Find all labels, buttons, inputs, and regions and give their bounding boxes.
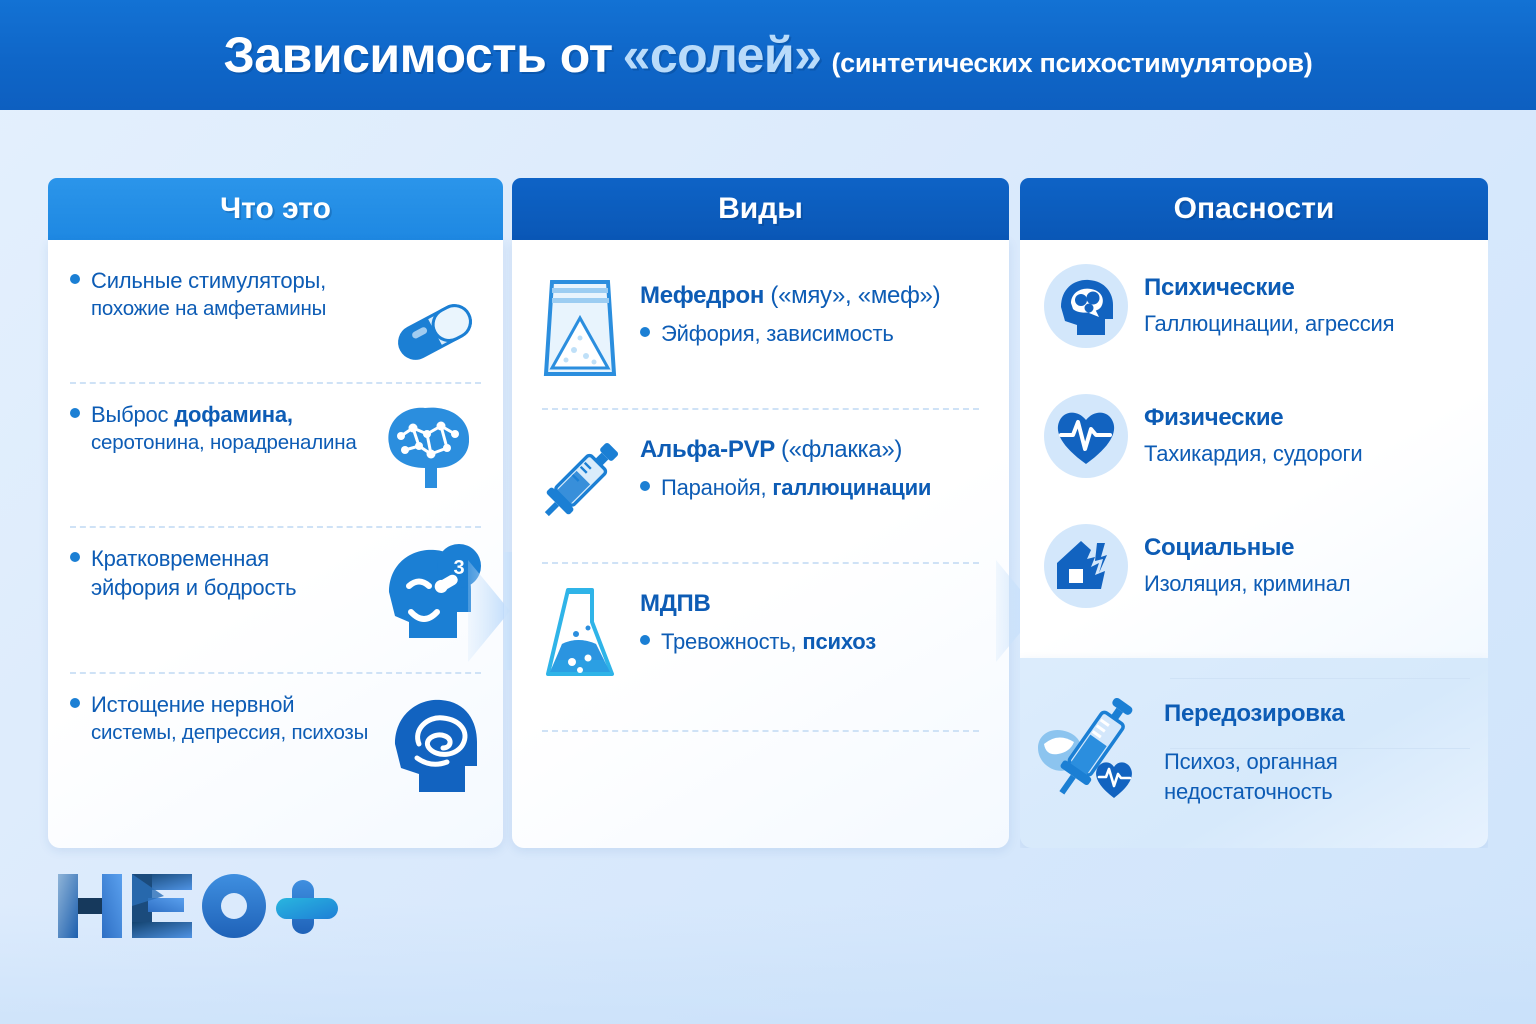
type-name: Альфа-PVP xyxy=(640,436,775,463)
column-title-dangers: Опасности xyxy=(1174,192,1335,226)
type-name: МДПВ xyxy=(640,590,710,617)
column-dangers: Опасности Психические Галлюцинации, агре xyxy=(1020,178,1488,848)
danger-title: Физические xyxy=(1144,404,1474,432)
column-body-what-is-it: Сильные стимуляторы, похожие на амфетами… xyxy=(48,240,503,848)
danger-title: Передозировка xyxy=(1164,700,1474,728)
bullet-icon xyxy=(70,408,80,418)
banner-title-group: Зависимость от «солей» (синтетических пс… xyxy=(223,26,1312,84)
column-title-types: Виды xyxy=(718,192,803,226)
syringe-icon xyxy=(536,424,624,534)
flask-icon xyxy=(536,578,624,686)
type-effect: Паранойя, xyxy=(661,475,772,500)
bullet-icon xyxy=(70,274,80,284)
list-item: Психические Галлюцинации, агрессия xyxy=(1044,264,1474,348)
column-header-what-is-it: Что это xyxy=(48,178,503,240)
pill-capsule-icon xyxy=(389,300,481,369)
bullet-icon xyxy=(640,635,650,645)
type-name: Мефедрон xyxy=(640,282,764,309)
type-effect-bold: галлюцинации xyxy=(772,475,931,500)
danger-title: Социальные xyxy=(1144,534,1474,562)
item-line-2: похожие на амфетамины xyxy=(91,295,385,322)
list-item: Кратковременная эйфория и бодрость 3 xyxy=(70,544,481,668)
divider xyxy=(1170,678,1470,679)
list-item: МДПВ Тревожность, психоз xyxy=(536,578,985,706)
broken-house-icon xyxy=(1044,524,1128,608)
powder-bag-icon xyxy=(536,270,624,382)
list-item: Сильные стимуляторы, похожие на амфетами… xyxy=(70,266,481,378)
divider xyxy=(542,730,979,732)
item-line-1: Истощение нервной xyxy=(91,692,294,717)
infographic-board: Что это Сильные стимуляторы, похожие на … xyxy=(0,110,1536,870)
page-title-main: Зависимость от xyxy=(223,26,612,84)
column-title-what-is-it: Что это xyxy=(220,192,331,226)
type-alias: («мяу», «меф») xyxy=(770,282,940,309)
item-line-1: Сильные стимуляторы, xyxy=(91,268,326,293)
neo-plus-logo xyxy=(48,866,348,946)
danger-desc-line-1: Психоз, органная xyxy=(1164,748,1474,776)
column-header-types: Виды xyxy=(512,178,1009,240)
type-alias: («флакка») xyxy=(781,436,902,463)
bullet-icon xyxy=(640,481,650,491)
item-line-2: эйфория и бодрость xyxy=(91,573,385,602)
divider xyxy=(70,672,481,674)
column-what-is-it: Что это Сильные стимуляторы, похожие на … xyxy=(48,178,503,848)
list-item: Мефедрон («мяу», «меф») Эйфория, зависим… xyxy=(536,270,985,398)
danger-desc: Тахикардия, судороги xyxy=(1144,440,1474,468)
list-item: Физические Тахикардия, судороги xyxy=(1044,394,1474,478)
page-title-quoted: «солей» xyxy=(623,26,822,84)
heart-pulse-icon xyxy=(1044,394,1128,478)
bullet-icon xyxy=(70,552,80,562)
bullet-icon xyxy=(640,327,650,337)
list-item: Выброс дофамина, серотонина, норадренали… xyxy=(70,400,481,522)
head-tangled-brain-icon xyxy=(379,688,489,807)
list-item: Истощение нервной системы, депрессия, пс… xyxy=(70,690,481,810)
column-header-dangers: Опасности xyxy=(1020,178,1488,240)
syringe-heart-icon xyxy=(1030,690,1148,808)
danger-title: Психические xyxy=(1144,274,1474,302)
column-body-types: Мефедрон («мяу», «меф») Эйфория, зависим… xyxy=(512,240,1009,848)
type-effect-bold: психоз xyxy=(802,629,876,654)
list-item: Альфа-PVP («флакка») Паранойя, галлюцина… xyxy=(536,424,985,552)
list-item: Передозировка Психоз, органная недостато… xyxy=(1044,690,1474,808)
type-effect: Тревожность, xyxy=(661,629,802,654)
danger-desc-line-2: недостаточность xyxy=(1164,778,1474,806)
divider xyxy=(70,526,481,528)
danger-desc: Изоляция, криминал xyxy=(1144,570,1474,598)
page-subtitle: (синтетических психостимуляторов) xyxy=(831,48,1312,79)
brain-network-icon xyxy=(367,396,483,501)
divider xyxy=(70,382,481,384)
item-line-1-bold: дофамина, xyxy=(174,402,293,427)
column-body-dangers: Психические Галлюцинации, агрессия Физич… xyxy=(1020,240,1488,848)
type-effect: Эйфория, зависимость xyxy=(661,321,894,346)
item-line-1-plain: Выброс xyxy=(91,402,174,427)
head-thought-bubbles-icon xyxy=(1044,264,1128,348)
item-line-1: Кратковременная xyxy=(91,546,269,571)
danger-desc: Галлюцинации, агрессия xyxy=(1144,310,1474,338)
item-line-2: серотонина, норадреналина xyxy=(91,429,385,456)
divider xyxy=(542,408,979,410)
page-banner: Зависимость от «солей» (синтетических пс… xyxy=(0,0,1536,110)
column-types: Виды Мефедрон («мяу xyxy=(512,178,1009,848)
divider xyxy=(542,562,979,564)
item-line-2: системы, депрессия, психозы xyxy=(91,719,377,746)
bullet-icon xyxy=(70,698,80,708)
list-item: Социальные Изоляция, криминал xyxy=(1044,524,1474,608)
